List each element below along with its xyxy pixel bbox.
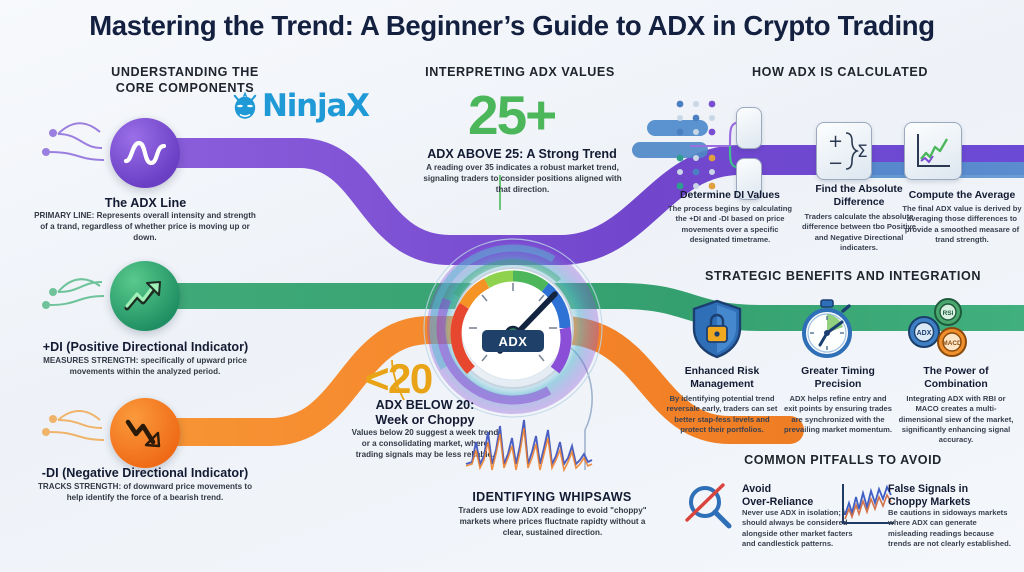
adx-line-icon [110,118,180,188]
line-chart-box-icon [904,122,962,180]
page-title: Mastering the Trend: A Beginner’s Guide … [0,10,1024,42]
core-item-0-title: The ADX Line [48,196,243,211]
shield-lock-icon [690,298,744,360]
calc-step-0-title: Determine DI Values [666,190,794,203]
gauge-adx-label: ADX [482,330,544,352]
core-item-0-body: PRIMARY LINE: Represents overall intensi… [34,211,256,243]
minus-di-icon [110,398,180,468]
pitfall-0-title: Avoid Over-Reliance [742,483,852,509]
gear-label-adx: ADX [917,330,932,337]
whipsaws-body: Traders use low ADX readinge to evoid "c… [455,506,650,538]
calc-step-2-body: The final ADX value is derived by averag… [902,204,1022,245]
gear-label-macd: MACD [942,340,962,347]
calc-step-0-body: The process begins by calculating the +D… [664,204,796,245]
gear-label-rsi: RSI [943,310,954,317]
section-heading-pitfalls: COMMON PITFALLS TO AVOID [668,452,1018,468]
magnifier-crossed-icon [683,482,737,534]
whipsaws-title: IDENTIFYING WHIPSAWS [452,490,652,505]
adx-above-25-title: ADX ABOVE 25: A Strong Trend [422,147,622,162]
calc-step-2-title: Compute the Average [900,190,1024,203]
calc-node-plus-di [736,107,762,149]
section-heading-benefits: STRATEGIC BENEFITS AND INTEGRATION [668,268,1018,284]
section-heading-core-components: UNDERSTANDING THE CORE COMPONENTS [60,64,310,96]
gauge-dial-icon [418,233,608,423]
core-item-1-title: +DI (Positive Directional Indicator) [18,340,273,355]
sigma-sum-icon: + − Σ [816,122,872,180]
section-heading-calculated: HOW ADX IS CALCULATED [690,64,990,80]
core-item-2-body: TRACKS STRENGTH: of downward price movem… [30,482,260,504]
benefit-2-title: The Power of Combination [898,366,1014,391]
benefit-1-title: Greater Timing Precision [784,366,892,391]
benefit-0-title: Enhanced Risk Management [668,366,776,391]
gears-combination-icon: RSI ADX MACD [902,296,976,362]
volatile-line-chart-icon [462,412,642,480]
benefit-0-body: By identifying potential trend reversale… [664,394,780,435]
benefit-2-body: Integrating ADX with RBI or MACO creates… [894,394,1018,445]
pitfall-1-body: Be cautions in sidoways markets where AD… [888,508,1016,549]
section-heading-interpreting: INTERPRETING ADX VALUES [400,64,640,80]
adx-below-20-number: <20 [365,358,432,400]
core-item-1-body: MEASURES STRENGTH: specifically of upwar… [30,356,260,378]
calc-plus-symbol: + [828,131,843,152]
dot-matrix-icon [668,96,788,192]
pitfall-1-title: False Signals in Choppy Markets [888,483,1008,509]
adx-above-25-body: A reading over 35 indicates a robust mar… [420,163,625,195]
benefit-1-body: ADX helps refine entry and exit points b… [782,394,894,435]
stopwatch-icon [798,298,856,360]
plus-di-icon [110,261,180,331]
core-item-2-title: -DI (Negative Directional Indicator) [14,466,276,481]
adx-above-25-number: 25+ [468,88,555,143]
calc-minus-symbol: − [828,153,843,174]
calc-sigma-symbol: Σ [857,142,868,162]
